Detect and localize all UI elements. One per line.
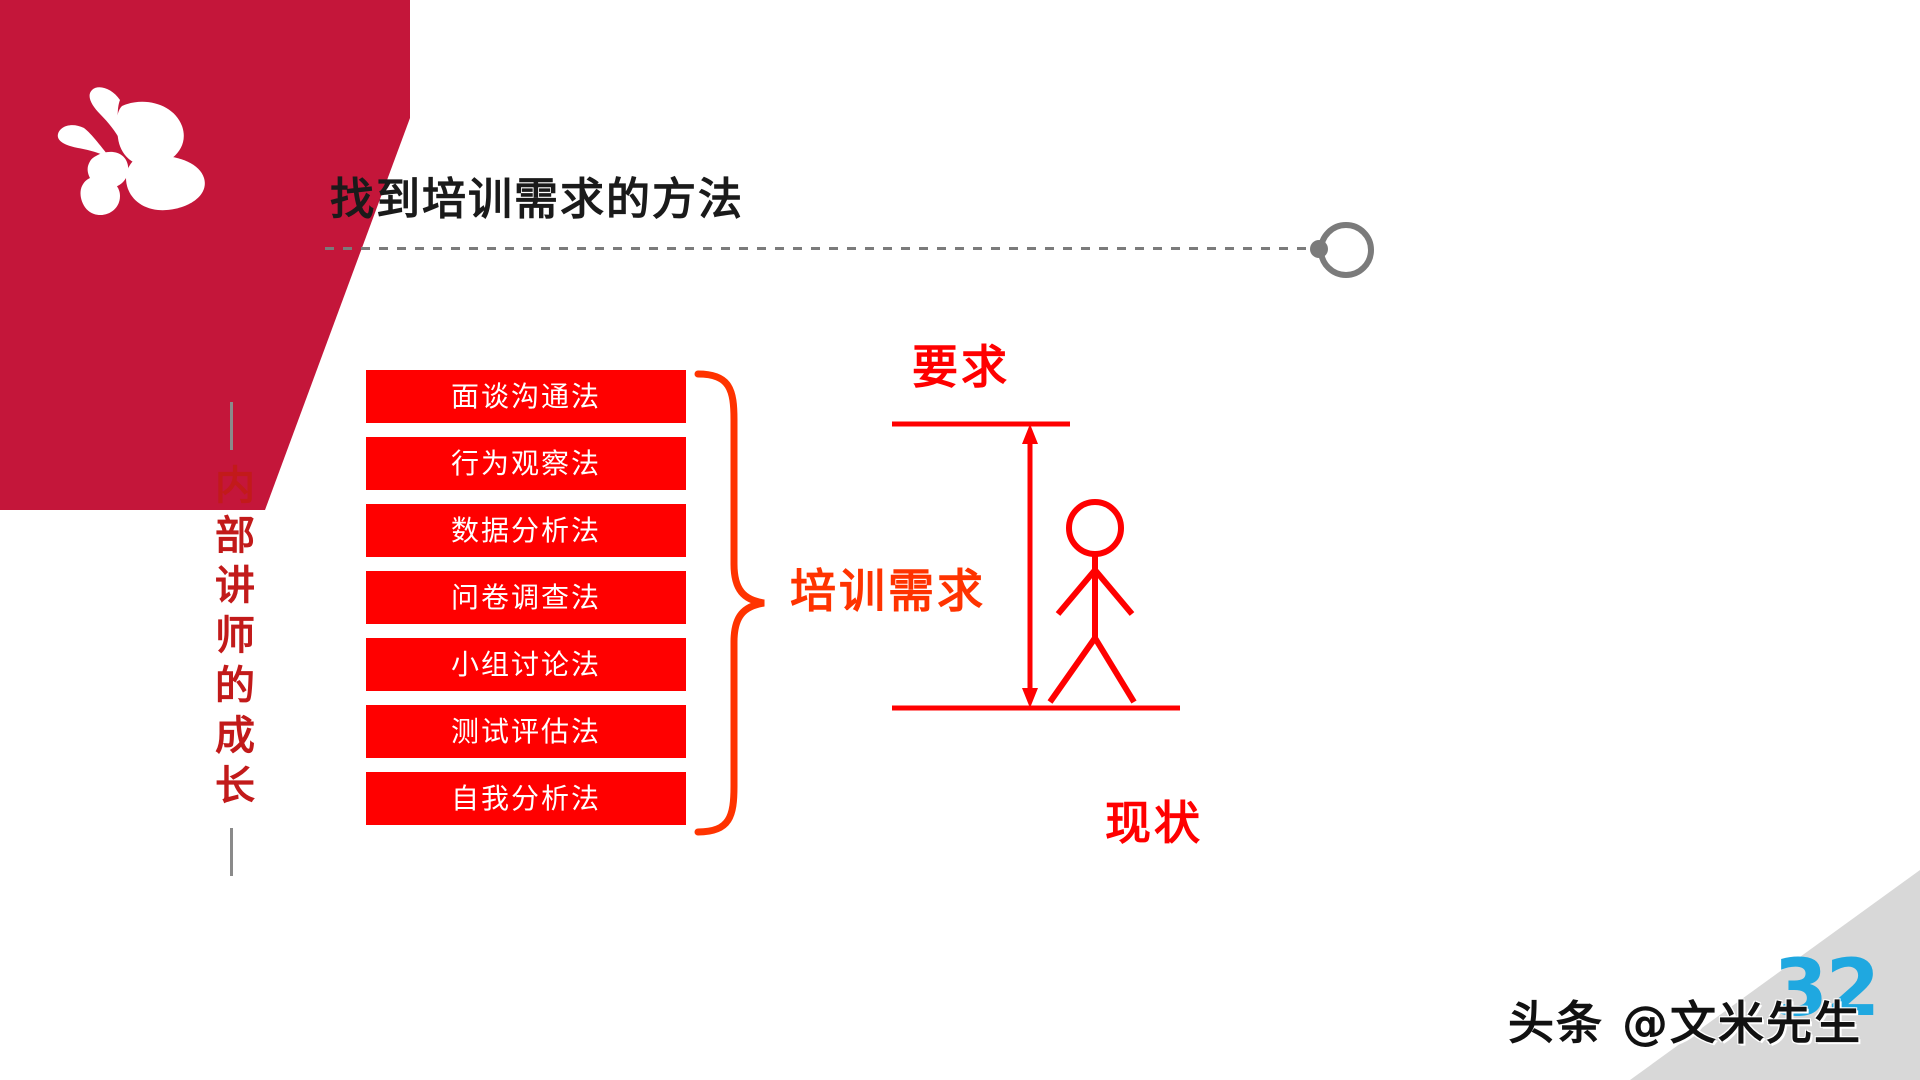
arrow-head-down: [1022, 688, 1038, 708]
curly-brace-icon: [690, 368, 780, 838]
method-label: 测试评估法: [451, 718, 601, 746]
method-item-4[interactable]: 问卷调查法: [366, 571, 686, 624]
method-label: 自我分析法: [451, 785, 601, 813]
method-label: 小组讨论法: [451, 651, 601, 679]
watermark-text: 头条 @文米先生: [1508, 1000, 1862, 1046]
current-state-label: 现状: [1105, 800, 1203, 846]
arrow-head-up: [1022, 424, 1038, 444]
method-item-7[interactable]: 自我分析法: [366, 772, 686, 825]
method-item-5[interactable]: 小组讨论法: [366, 638, 686, 691]
method-item-3[interactable]: 数据分析法: [366, 504, 686, 557]
butterfly-icon: [48, 82, 208, 222]
sidebar-caption: 内部讲师的成长: [196, 402, 266, 876]
caption-bottom-rule: [230, 828, 233, 876]
caption-top-rule: [230, 402, 233, 450]
method-item-2[interactable]: 行为观察法: [366, 437, 686, 490]
title-dotted-rule: [325, 247, 1315, 250]
method-list: 面谈沟通法 行为观察法 数据分析法 问卷调查法 小组讨论法 测试评估法 自我分析…: [366, 370, 686, 825]
page-title-block: 找到培训需求的方法: [330, 178, 744, 222]
gap-diagram: [880, 330, 1350, 810]
requirement-label: 要求: [912, 344, 1010, 390]
rule-end-dot-icon: [1310, 240, 1328, 258]
method-item-6[interactable]: 测试评估法: [366, 705, 686, 758]
method-label: 面谈沟通法: [451, 383, 601, 411]
stick-figure-icon: [1050, 502, 1134, 702]
method-item-1[interactable]: 面谈沟通法: [366, 370, 686, 423]
method-label: 问卷调查法: [451, 584, 601, 612]
page-title: 找到培训需求的方法: [330, 178, 744, 222]
method-label: 行为观察法: [451, 450, 601, 478]
sidebar-caption-text: 内部讲师的成长: [211, 464, 251, 814]
slide-canvas: 找到培训需求的方法 内部讲师的成长 面谈沟通法 行为观察法 数据分析法 问卷调查…: [0, 0, 1920, 1080]
method-label: 数据分析法: [451, 517, 601, 545]
